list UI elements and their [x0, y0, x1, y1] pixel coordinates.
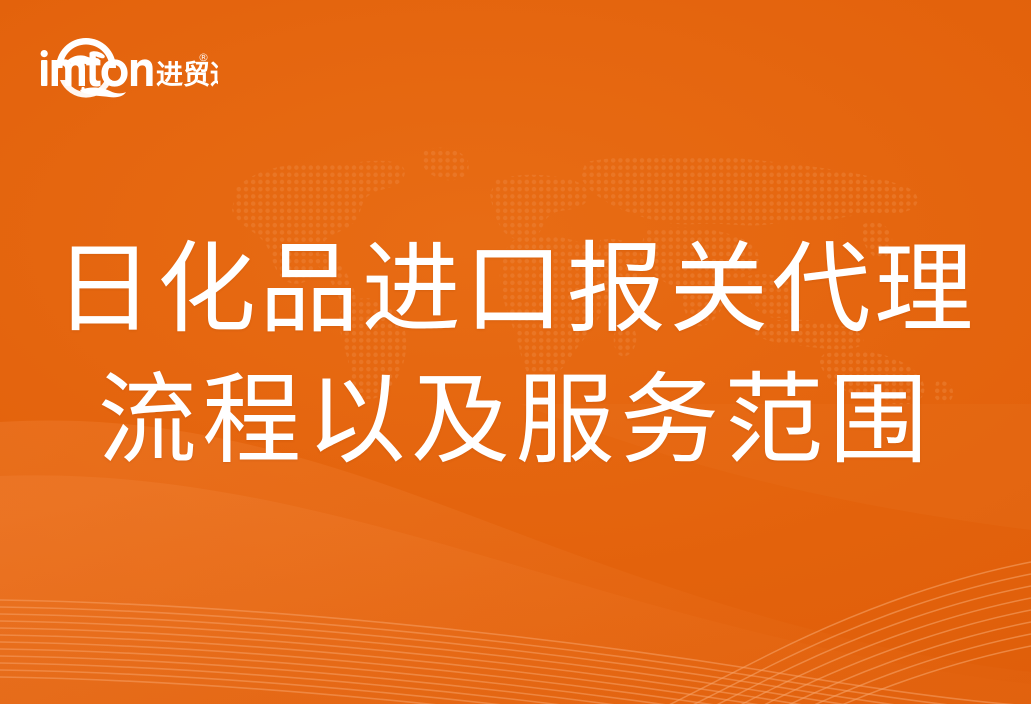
promo-banner: 进贸通 ® 日化品进口报关代理 流程以及服务范围	[0, 0, 1031, 704]
striped-curves-decoration	[0, 454, 1031, 704]
headline-line-1: 日化品进口报关代理	[0, 226, 1031, 357]
brand-logo[interactable]: 进贸通 ®	[38, 24, 218, 102]
headline-line-2: 流程以及服务范围	[0, 357, 1031, 488]
page-title: 日化品进口报关代理 流程以及服务范围	[0, 226, 1031, 487]
trademark-icon: ®	[198, 51, 209, 64]
logo-chinese-name: 进贸通	[156, 60, 218, 91]
